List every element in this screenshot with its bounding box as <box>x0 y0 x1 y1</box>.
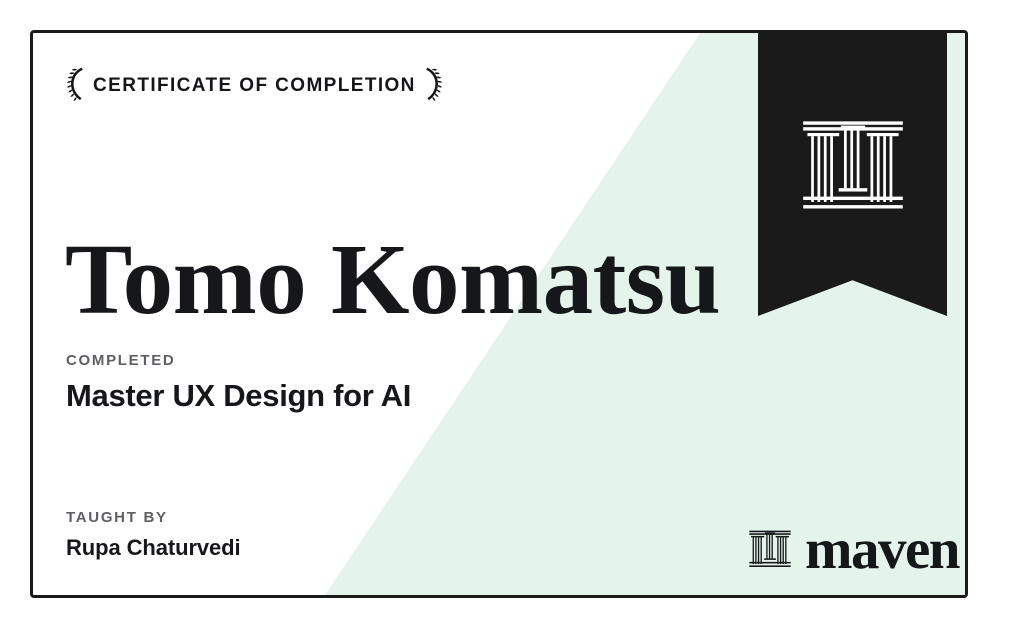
certificate-page: CERTIFICATE OF COMPLETION <box>0 0 1024 630</box>
certificate-kicker: CERTIFICATE OF COMPLETION <box>93 76 416 95</box>
course-title: Master UX Design for AI <box>66 380 411 411</box>
laurel-branch-right-icon <box>423 66 445 104</box>
recipient-name: Tomo Komatsu <box>65 226 720 332</box>
laurel-branch-left-icon <box>64 66 86 104</box>
ribbon-emblem <box>758 30 947 316</box>
completed-block: COMPLETED Master UX Design for AI <box>66 353 411 411</box>
maven-logo: maven <box>748 521 959 578</box>
taught-by-block: TAUGHT BY Rupa Chaturvedi <box>66 510 241 559</box>
taught-by-label: TAUGHT BY <box>66 510 241 525</box>
maven-monument-icon <box>800 30 906 221</box>
maven-wordmark: maven <box>805 521 959 578</box>
maven-monument-icon <box>748 528 792 572</box>
instructor-name: Rupa Chaturvedi <box>66 537 241 559</box>
completed-label: COMPLETED <box>66 353 411 368</box>
certificate-header: CERTIFICATE OF COMPLETION <box>64 66 445 104</box>
certificate-card: CERTIFICATE OF COMPLETION <box>30 30 968 598</box>
